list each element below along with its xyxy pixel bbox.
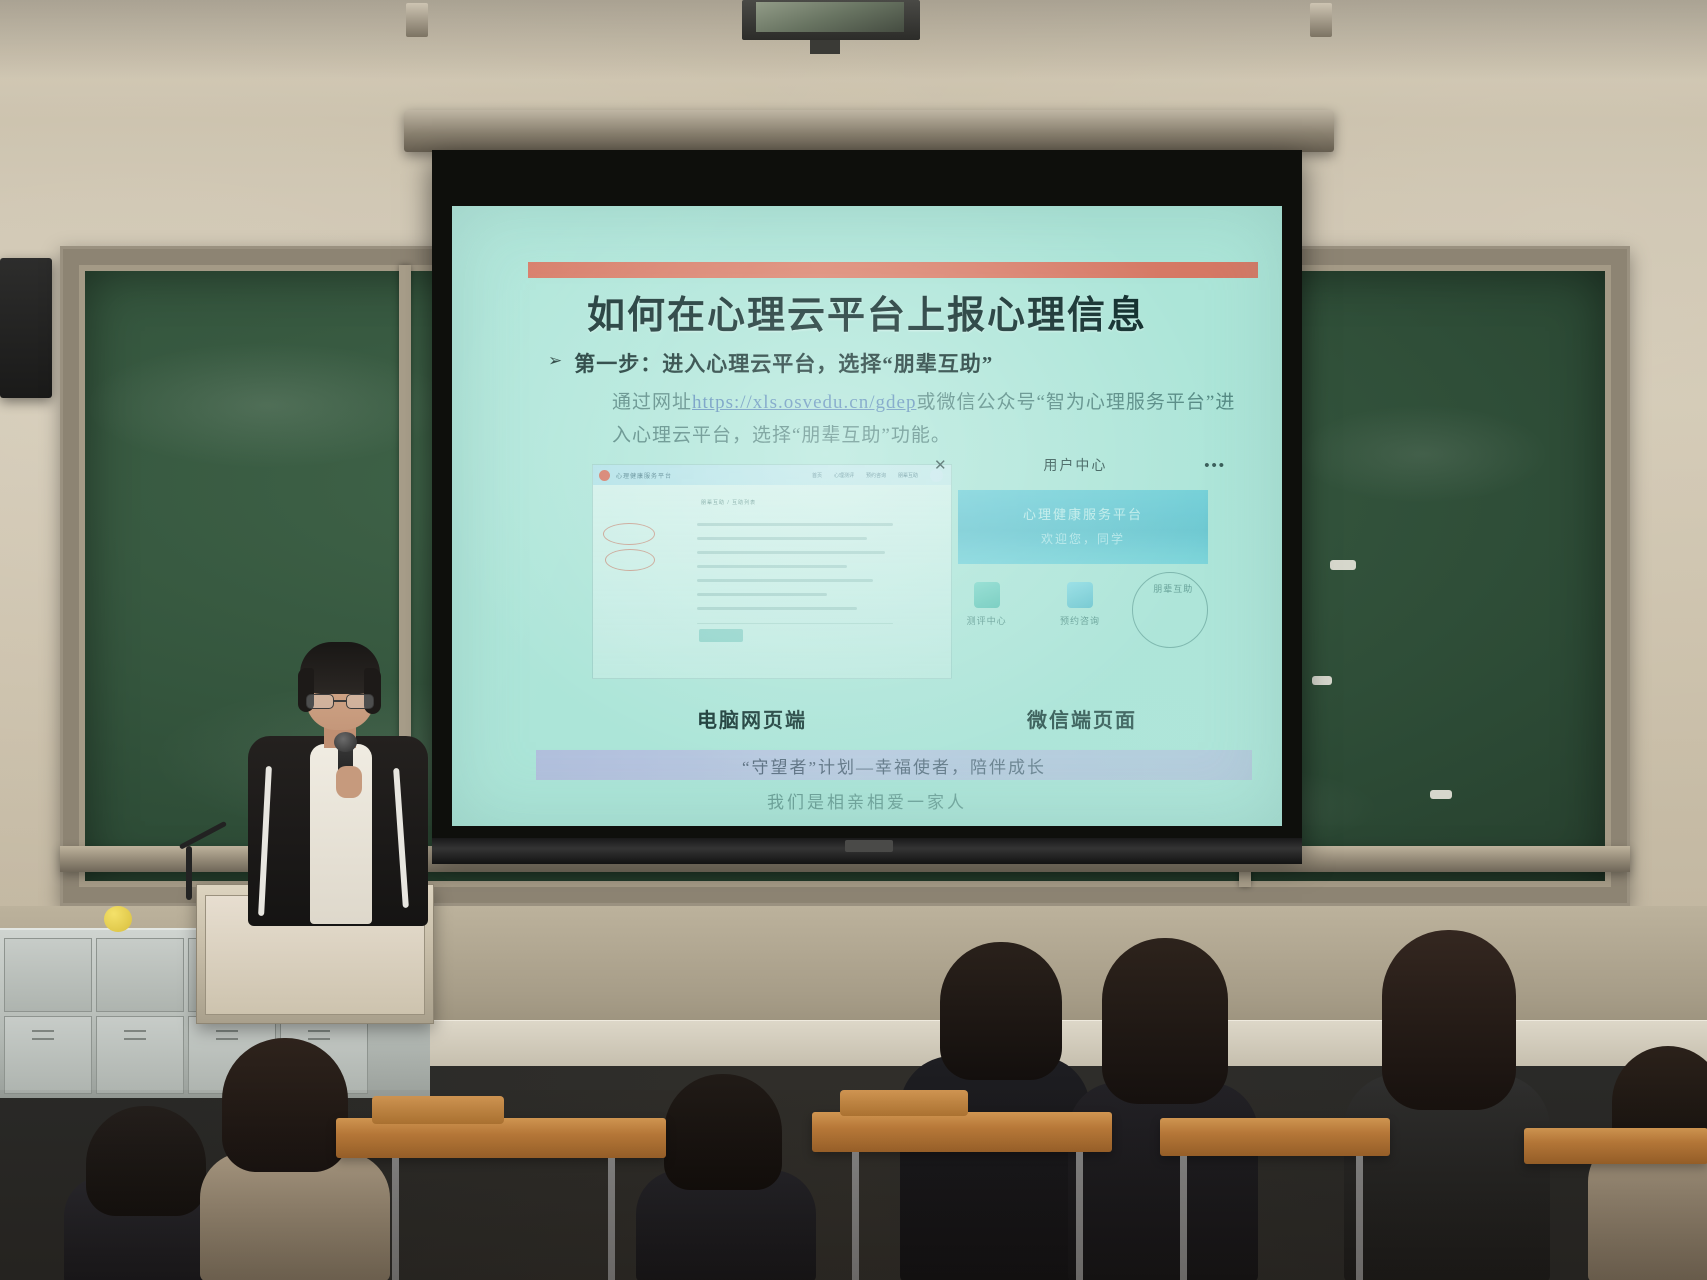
wechat-tile-label-0: 测评中心 bbox=[950, 614, 1024, 627]
platform-url-link[interactable]: https://xls.osvedu.cn/gdep bbox=[692, 392, 916, 413]
chair-backrest bbox=[840, 1090, 968, 1116]
pc-content-line bbox=[697, 537, 867, 540]
wall-speaker bbox=[0, 258, 52, 398]
pc-screenshot-header: 心理健康服务平台 首页 心理测评 预约咨询 朋辈互助 bbox=[593, 465, 951, 485]
paragraph-prefix: 通过网址 bbox=[612, 392, 692, 413]
cabinet-door[interactable] bbox=[4, 938, 92, 1012]
desk bbox=[812, 1112, 1112, 1152]
eyeglass-lens-left bbox=[306, 694, 334, 709]
cabinet-vent bbox=[216, 1030, 238, 1032]
microphone-stand-pole bbox=[186, 846, 192, 900]
student-hair bbox=[222, 1038, 348, 1172]
cabinet-vent bbox=[216, 1038, 238, 1040]
eyeglass-lens-right bbox=[346, 694, 374, 709]
more-options-icon[interactable]: ••• bbox=[1204, 458, 1226, 473]
pc-nav-item-1[interactable]: 心理测评 bbox=[834, 472, 854, 479]
student-hair bbox=[1102, 938, 1228, 1104]
wechat-page-title: 用户中心 bbox=[1043, 455, 1107, 475]
cabinet-vent bbox=[308, 1038, 330, 1040]
slide-footer-band-text: “守望者”计划—幸福使者，陪伴成长 bbox=[536, 750, 1252, 780]
screen-housing-cap-left bbox=[406, 3, 428, 37]
slide-title: 如何在心理云平台上报心理信息 bbox=[452, 284, 1282, 339]
pc-nav-item-3[interactable]: 朋辈互助 bbox=[898, 472, 918, 479]
apple bbox=[104, 906, 132, 932]
desk bbox=[1524, 1128, 1707, 1164]
cabinet-vent bbox=[308, 1030, 330, 1032]
cabinet-vent bbox=[32, 1038, 54, 1040]
slide-paragraph: 通过网址https://xls.osvedu.cn/gdep或微信公众号“智为心… bbox=[612, 386, 1242, 452]
wechat-banner: 心理健康服务平台 欢迎您，同学 bbox=[958, 490, 1208, 564]
pc-content-line bbox=[697, 523, 893, 526]
site-logo-icon bbox=[599, 470, 610, 481]
student-hair bbox=[1382, 930, 1516, 1110]
wechat-topbar: ✕ 用户中心 ••• bbox=[930, 454, 1230, 476]
presenter-hand bbox=[336, 766, 362, 798]
pc-nav-item-2[interactable]: 预约咨询 bbox=[866, 472, 886, 479]
slide-bullet-text: 第一步：进入心理云平台，选择“朋辈互助” bbox=[574, 348, 993, 378]
clipboard-icon bbox=[974, 582, 1000, 608]
pc-subnav-label: 朋辈互助 / 互助列表 bbox=[701, 499, 756, 506]
microphone-head-icon bbox=[334, 732, 357, 752]
desk bbox=[1160, 1118, 1390, 1156]
projection-screen-housing bbox=[404, 110, 1334, 152]
chalk-piece bbox=[1330, 560, 1356, 570]
cabinet-door[interactable] bbox=[96, 938, 184, 1012]
bullet-arrow-icon: ➢ bbox=[548, 351, 562, 371]
student-hair bbox=[86, 1106, 206, 1216]
screen-pull-handle[interactable] bbox=[845, 840, 893, 852]
cabinet-door[interactable] bbox=[96, 1016, 184, 1094]
pc-screenshot-nav: 首页 心理测评 预约咨询 朋辈互助 bbox=[812, 469, 943, 482]
projector-arm bbox=[810, 40, 840, 54]
pc-content-line bbox=[697, 551, 885, 554]
eyeglasses-icon bbox=[306, 694, 376, 710]
student-hair bbox=[664, 1074, 782, 1190]
wechat-screenshot: ✕ 用户中心 ••• 心理健康服务平台 欢迎您，同学 测评中心 预约咨询 bbox=[930, 454, 1230, 680]
projected-slide: 如何在心理云平台上报心理信息 ➢ 第一步：进入心理云平台，选择“朋辈互助” 通过… bbox=[452, 206, 1282, 826]
pc-content-line bbox=[697, 579, 873, 582]
pc-submit-button[interactable] bbox=[699, 629, 743, 642]
pc-nav-item-0[interactable]: 首页 bbox=[812, 472, 822, 479]
document-icon bbox=[1067, 582, 1093, 608]
projector-lens-icon bbox=[756, 2, 904, 32]
chair-backrest bbox=[372, 1096, 504, 1124]
slide-accent-bar bbox=[528, 262, 1258, 278]
slide-footer-subtext: 我们是相亲相爱一家人 bbox=[452, 788, 1282, 813]
pc-content-line bbox=[697, 565, 847, 568]
caption-pc: 电脑网页端 bbox=[632, 704, 872, 733]
chair-leg bbox=[1180, 1156, 1187, 1280]
close-icon[interactable]: ✕ bbox=[934, 458, 947, 473]
chair-leg bbox=[1356, 1156, 1363, 1280]
chair-leg bbox=[608, 1158, 615, 1280]
slide-footer-band: “守望者”计划—幸福使者，陪伴成长 bbox=[536, 750, 1252, 780]
wechat-banner-line1: 心理健康服务平台 bbox=[958, 504, 1208, 523]
chalk-piece bbox=[1430, 790, 1452, 799]
pc-screenshot-title: 心理健康服务平台 bbox=[616, 471, 672, 480]
wechat-tile-1[interactable]: 预约咨询 bbox=[1043, 582, 1117, 627]
wechat-tile-0[interactable]: 测评中心 bbox=[950, 582, 1024, 627]
pc-divider bbox=[697, 623, 893, 624]
pc-web-screenshot: 心理健康服务平台 首页 心理测评 预约咨询 朋辈互助 朋辈互助 / 互助列表 bbox=[592, 464, 952, 679]
pc-content-line bbox=[697, 607, 857, 610]
cabinet-door[interactable] bbox=[4, 1016, 92, 1094]
annotation-ellipse bbox=[605, 549, 655, 571]
annotation-ellipse bbox=[603, 523, 655, 545]
desk bbox=[336, 1118, 666, 1158]
slide-bullet: ➢ 第一步：进入心理云平台，选择“朋辈互助” bbox=[548, 348, 1248, 378]
wechat-banner-line2: 欢迎您，同学 bbox=[958, 530, 1208, 547]
student-hair bbox=[940, 942, 1062, 1080]
annotation-circle bbox=[1132, 572, 1208, 648]
screen-housing-cap-right bbox=[1310, 3, 1332, 37]
chair-leg bbox=[1076, 1152, 1083, 1280]
chair-leg bbox=[392, 1158, 399, 1280]
cabinet-vent bbox=[32, 1030, 54, 1032]
cabinet-vent bbox=[124, 1038, 146, 1040]
pc-content-line bbox=[697, 593, 827, 596]
cabinet-vent bbox=[124, 1030, 146, 1032]
wechat-tile-label-1: 预约咨询 bbox=[1043, 614, 1117, 627]
eyeglass-bridge bbox=[334, 700, 346, 702]
caption-wechat: 微信端页面 bbox=[952, 704, 1212, 733]
lecture-hall-scene: 如何在心理云平台上报心理信息 ➢ 第一步：进入心理云平台，选择“朋辈互助” 通过… bbox=[0, 0, 1707, 1280]
chair-leg bbox=[852, 1152, 859, 1280]
chalk-piece bbox=[1312, 676, 1332, 685]
